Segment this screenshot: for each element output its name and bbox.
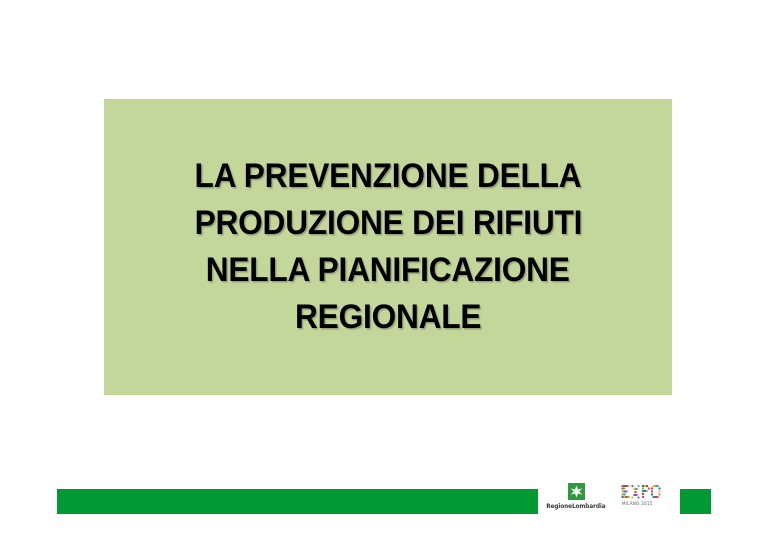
title-line-2: PRODUZIONE DEI RIFIUTI <box>194 200 582 247</box>
lombardy-rose-icon <box>568 483 585 500</box>
footer-green-block <box>680 489 711 514</box>
logo-regione-wordmark: RegioneLombardia <box>546 503 605 510</box>
title-line-3: NELLA PIANIFICAZIONE <box>206 247 570 294</box>
title-panel: LA PREVENZIONE DELLA PRODUZIONE DEI RIFI… <box>104 99 672 395</box>
slide-footer: RegioneLombardia <box>0 470 768 543</box>
logo-expo-subtitle: MILANO 2015 <box>621 501 663 506</box>
logo-regione-lombardia: RegioneLombardia <box>543 483 609 521</box>
logo-expo-milano: MILANO 2015 <box>621 484 663 518</box>
expo-pixel-logo-icon <box>621 484 663 500</box>
title-line-4: REGIONALE <box>295 294 481 341</box>
footer-green-bar <box>57 489 538 514</box>
title-line-1: LA PREVENZIONE DELLA <box>195 153 582 200</box>
slide-canvas: LA PREVENZIONE DELLA PRODUZIONE DEI RIFI… <box>0 0 768 543</box>
